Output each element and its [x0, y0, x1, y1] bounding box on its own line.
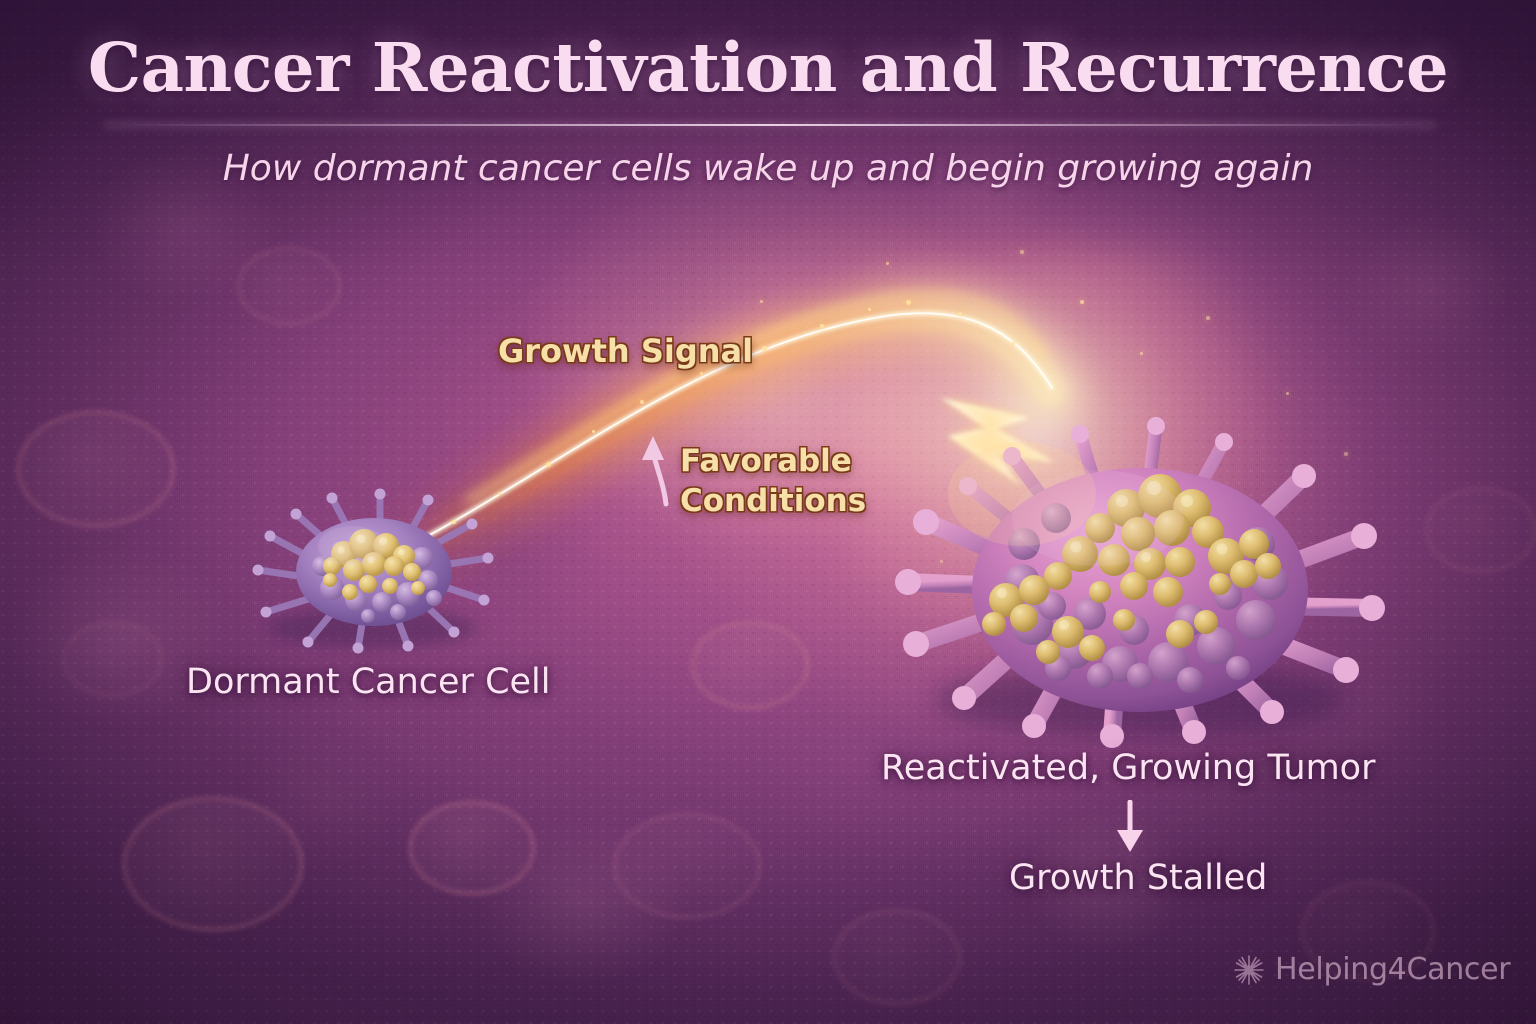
label-favorable-conditions: Favorable Conditions	[680, 441, 866, 522]
label-reactivated-growing-tumor: Reactivated, Growing Tumor	[881, 748, 1375, 788]
infographic-canvas: Cancer Reactivation and Recurrence How d…	[0, 0, 1536, 1024]
watermark: Helping4Cancer	[1232, 952, 1510, 987]
page-subtitle: How dormant cancer cells wake up and beg…	[0, 148, 1536, 189]
label-growth-signal: Growth Signal	[498, 332, 753, 370]
page-title: Cancer Reactivation and Recurrence	[0, 28, 1536, 107]
title-divider	[104, 124, 1436, 126]
dormant-cancer-cell	[222, 466, 512, 656]
down-arrow-icon	[1110, 800, 1150, 856]
label-favorable-line-2: Conditions	[680, 481, 866, 521]
starburst-cell-icon	[1232, 953, 1266, 987]
label-favorable-line-1: Favorable	[680, 441, 866, 481]
reactivated-growing-tumor	[872, 368, 1402, 748]
label-growth-stalled: Growth Stalled	[1009, 858, 1267, 898]
label-dormant-cancer-cell: Dormant Cancer Cell	[186, 662, 551, 702]
watermark-text: Helping4Cancer	[1275, 952, 1510, 987]
